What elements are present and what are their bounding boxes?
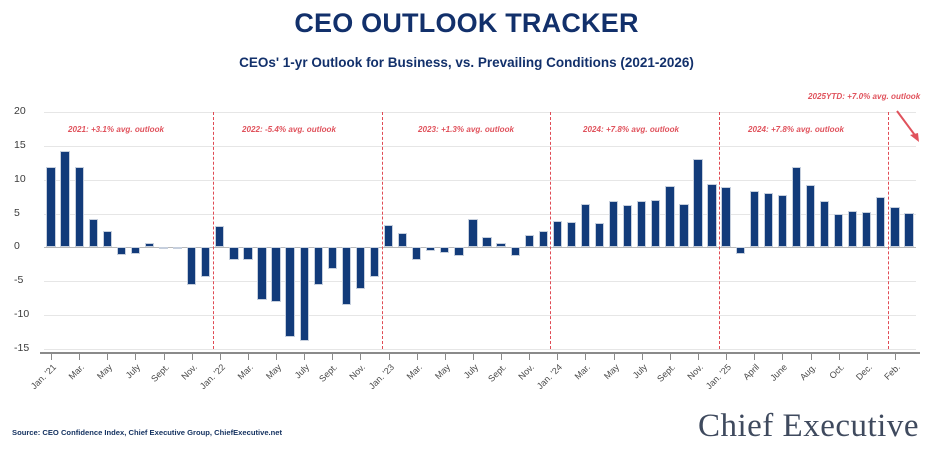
bar[interactable] [159,247,168,249]
x-axis-tick [107,354,108,360]
x-axis-tick [473,354,474,360]
year-divider [213,112,214,349]
x-axis-tick [276,354,277,360]
y-axis-tick-label: 0 [14,240,50,252]
x-axis-tick [417,354,418,360]
bar[interactable] [862,212,871,248]
bar[interactable] [215,226,224,248]
bar[interactable] [848,211,857,248]
y-axis-tick-label: -10 [14,308,50,320]
bar[interactable] [271,247,280,302]
x-axis-tick [445,354,446,360]
x-axis-tick [895,354,896,360]
bar[interactable] [103,231,112,247]
bar[interactable] [328,247,337,269]
x-axis-tick [614,354,615,360]
x-axis-tick [360,354,361,360]
x-axis-tick [726,354,727,360]
year-average-annotation: 2024: +7.8% avg. outlook [748,125,844,134]
bar[interactable] [285,247,294,336]
bar[interactable] [60,151,69,247]
bar[interactable] [229,247,238,259]
year-divider [382,112,383,349]
bar[interactable] [665,186,674,247]
x-axis-tick [51,354,52,360]
x-axis-tick [698,354,699,360]
bar[interactable] [693,159,702,248]
bar[interactable] [482,237,491,248]
year-divider [550,112,551,349]
bar[interactable] [806,185,815,247]
bar[interactable] [637,201,646,247]
y-axis-tick-label: 15 [14,139,50,151]
x-axis-tick [670,354,671,360]
plot-area: 20151050-5-10-15 [44,112,916,349]
bar[interactable] [46,167,55,248]
bar[interactable] [300,247,309,340]
gridline [44,349,916,350]
bar[interactable] [412,247,421,259]
x-axis-tick [754,354,755,360]
x-axis-tick [585,354,586,360]
x-axis-tick [304,354,305,360]
bar[interactable] [595,223,604,247]
x-axis-tick [839,354,840,360]
source-note: Source: CEO Confidence Index, Chief Exec… [12,428,282,437]
bar[interactable] [511,247,520,256]
bar[interactable] [257,247,266,299]
chart-subtitle: CEOs' 1-yr Outlook for Business, vs. Pre… [0,55,933,70]
bar[interactable] [145,243,154,248]
bar[interactable] [539,231,548,247]
bar[interactable] [707,184,716,247]
bar[interactable] [876,197,885,247]
bar[interactable] [651,200,660,247]
y-axis-tick-label: 5 [14,207,50,219]
bar[interactable] [426,247,435,251]
bar[interactable] [567,222,576,248]
x-axis-tick [867,354,868,360]
x-axis-tick [135,354,136,360]
year-average-annotation: 2023: +1.3% avg. outlook [418,125,514,134]
gridline [44,146,916,147]
bar[interactable] [370,247,379,276]
gridline [44,112,916,113]
ceo-outlook-tracker-chart: CEO OUTLOOK TRACKER CEOs' 1-yr Outlook f… [0,0,933,465]
bar[interactable] [117,247,126,254]
bar[interactable] [454,247,463,255]
x-axis-tick [529,354,530,360]
bar[interactable] [201,247,210,276]
page-title: CEO OUTLOOK TRACKER [0,8,933,39]
bar[interactable] [131,247,140,254]
bar[interactable] [314,247,323,284]
x-axis-tick [220,354,221,360]
brand-logo: Chief Executive [698,408,919,445]
x-axis-tick [389,354,390,360]
bar[interactable] [834,214,843,247]
y-axis-tick-label: 10 [14,173,50,185]
bar[interactable] [75,167,84,248]
y-axis-tick-label: 20 [14,105,50,117]
x-axis-tick [501,354,502,360]
bar[interactable] [609,201,618,248]
bar[interactable] [581,204,590,247]
gridline [44,281,916,282]
bar[interactable] [679,204,688,247]
x-axis-line [40,352,920,354]
bar[interactable] [820,201,829,247]
bar[interactable] [623,205,632,248]
x-axis-tick [192,354,193,360]
bar[interactable] [342,247,351,305]
bar[interactable] [173,247,182,249]
bar[interactable] [553,221,562,247]
year-average-annotation: 2024: +7.8% avg. outlook [583,125,679,134]
gridline [44,315,916,316]
x-axis-tick [248,354,249,360]
year-divider [888,112,889,349]
year-average-annotation: 2021: +3.1% avg. outlook [68,125,164,134]
bar[interactable] [89,219,98,247]
year-divider [719,112,720,349]
x-axis-tick [642,354,643,360]
bar[interactable] [187,247,196,284]
x-axis-tick [79,354,80,360]
trend-arrow-icon [893,108,927,148]
x-axis-tick [332,354,333,360]
bar[interactable] [243,247,252,260]
bar[interactable] [721,187,730,247]
year-average-annotation: 2022: -5.4% avg. outlook [242,125,336,134]
bar[interactable] [525,235,534,247]
y-axis-tick-label: -5 [14,274,50,286]
bar[interactable] [736,247,745,254]
bar[interactable] [468,219,477,247]
bar[interactable] [356,247,365,289]
x-axis-tick [811,354,812,360]
bar[interactable] [778,195,787,248]
bar[interactable] [792,167,801,248]
bar[interactable] [440,247,449,252]
bar[interactable] [384,225,393,247]
bar[interactable] [496,243,505,247]
bar[interactable] [904,213,913,248]
bar[interactable] [750,191,759,248]
bar[interactable] [890,207,899,248]
x-axis-tick [557,354,558,360]
bar[interactable] [764,193,773,248]
x-axis-tick [164,354,165,360]
gridline [44,180,916,181]
bar[interactable] [398,233,407,248]
ytd-average-annotation: 2025YTD: +7.0% avg. outlook [808,92,920,101]
x-axis-tick [782,354,783,360]
